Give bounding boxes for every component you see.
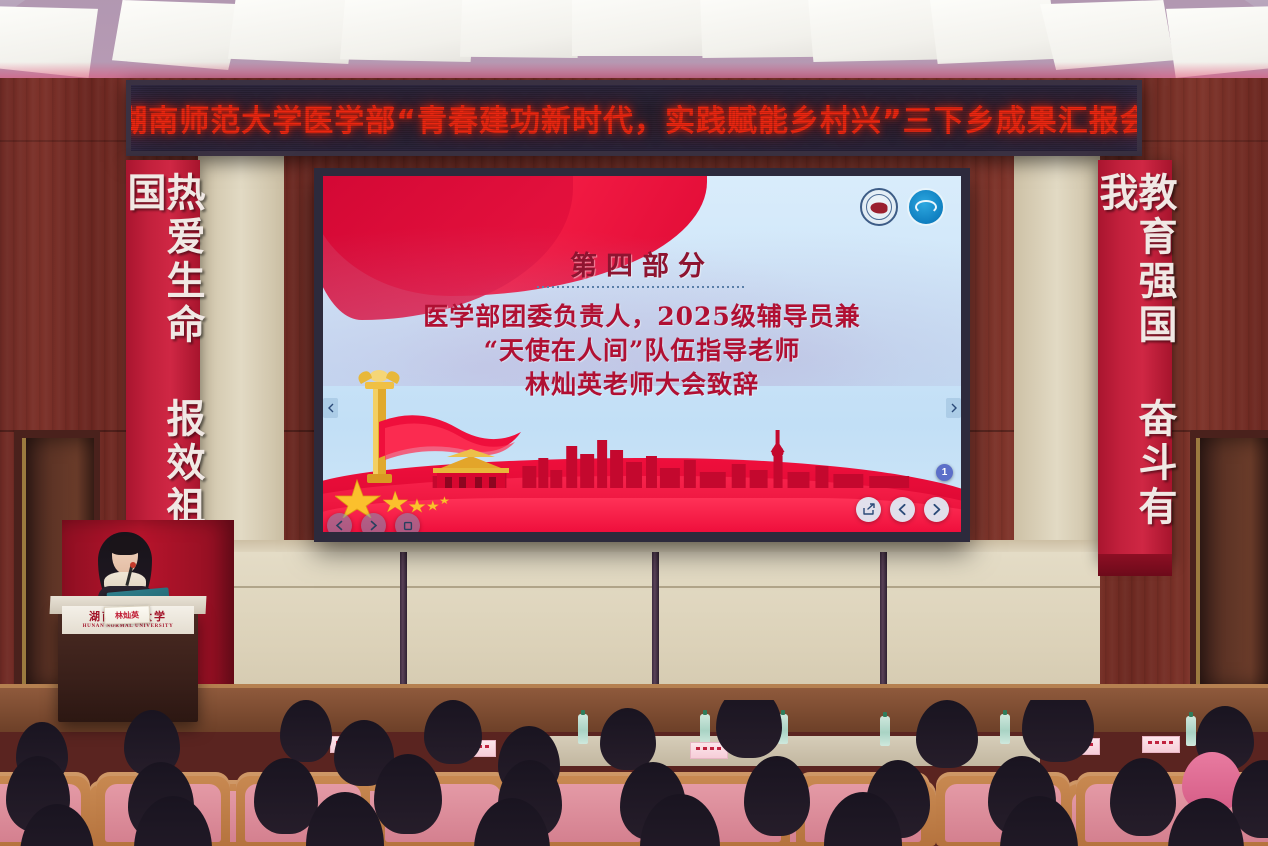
hunan-normal-university-seal-icon (860, 188, 898, 226)
audience-head (916, 700, 978, 768)
water-bottle (1186, 716, 1196, 746)
beige-wall-pillar-right (1014, 150, 1100, 552)
presentation-slide[interactable]: 第四部分 医学部团委负责人，2025级辅导员兼 “天使在人间”队伍指导老师 林灿… (323, 176, 961, 532)
audience-seating (0, 700, 1268, 846)
podium-org-name-en: HUNAN NORMAL UNIVERSITY (83, 624, 174, 629)
door-right[interactable] (1196, 438, 1268, 688)
slide-page-badge: 1 (936, 464, 953, 481)
ceiling-panel (460, 0, 580, 58)
audience-head (254, 758, 318, 834)
ceiling-panel (228, 0, 356, 64)
next-slide-button-secondary[interactable] (361, 513, 386, 532)
audience-head (1110, 758, 1176, 836)
next-slide-button[interactable] (924, 497, 949, 522)
audience-head (716, 700, 782, 758)
slide-logo-group (860, 188, 945, 226)
microphone-icon (130, 562, 136, 568)
audience-head (280, 700, 332, 762)
ceiling-panel (340, 0, 476, 62)
audience-head (374, 754, 442, 834)
audience-head (1022, 700, 1094, 762)
water-bottle (1000, 714, 1010, 744)
panel-expand-right-icon[interactable] (946, 398, 961, 418)
slide-title-block: 医学部团委负责人，2025级辅导员兼 “天使在人间”队伍指导老师 林灿英老师大会… (323, 300, 961, 401)
ceiling-panel (930, 0, 1058, 64)
slide-controls-right[interactable] (856, 497, 949, 522)
audience-head (600, 708, 656, 770)
share-slide-button[interactable] (856, 497, 881, 522)
panel-expand-left-icon[interactable] (323, 398, 338, 418)
water-bottle (578, 714, 588, 744)
projection-screen-bezel: 第四部分 医学部团委负责人，2025级辅导员兼 “天使在人间”队伍指导老师 林灿… (314, 168, 970, 542)
beige-wall-pillar-left (198, 150, 284, 552)
stop-presentation-button[interactable] (395, 513, 420, 532)
water-bottle (700, 714, 710, 744)
audience-head (744, 756, 810, 836)
slide-controls-left[interactable] (327, 513, 420, 532)
audience-head (424, 700, 482, 764)
five-gold-stars-graphic (335, 478, 475, 518)
slide-dotted-divider (537, 286, 747, 288)
vertical-banner-left: 热爱生命 报效祖国 (126, 160, 200, 560)
ceiling (0, 0, 1268, 88)
ceiling-panel (112, 0, 244, 70)
vertical-banner-left-text: 热爱生命 报效祖国 (124, 172, 202, 560)
vertical-banner-right: 教育强国 奋斗有我 (1098, 160, 1172, 560)
slide-title-line-2: “天使在人间”队伍指导老师 (323, 334, 961, 368)
speaker-nameplate: 林灿英 (104, 605, 151, 625)
ceiling-panel (808, 0, 944, 62)
led-headline-board: 湖南师范大学医学部“青春建功新时代，实践赋能乡村兴”三下乡成果汇报会 (126, 80, 1142, 156)
ceiling-panel (1040, 0, 1174, 70)
ceiling-panel (700, 0, 824, 58)
auditorium-scene: 湖南师范大学医学部“青春建功新时代，实践赋能乡村兴”三下乡成果汇报会 热爱生命 … (0, 0, 1268, 846)
slide-title-line-3: 林灿英老师大会致辞 (323, 368, 961, 402)
vertical-banner-right-text: 教育强国 奋斗有我 (1096, 172, 1174, 560)
name-card (1142, 736, 1180, 753)
prev-slide-button-secondary[interactable] (327, 513, 352, 532)
prev-slide-button[interactable] (890, 497, 915, 522)
wall-panel-line (198, 586, 1100, 588)
ceiling-panel (572, 0, 718, 56)
medical-school-emblem-icon (907, 188, 945, 226)
slide-title-line-1: 医学部团委负责人，2025级辅导员兼 (323, 300, 961, 334)
led-banner-text: 湖南师范大学医学部“青春建功新时代，实践赋能乡村兴”三下乡成果汇报会 (126, 96, 1142, 140)
banner-drape (1098, 554, 1172, 576)
speaker-name-text: 林灿英 (115, 609, 139, 621)
slide-section-label: 第四部分 (323, 244, 961, 283)
water-bottle (880, 716, 890, 746)
